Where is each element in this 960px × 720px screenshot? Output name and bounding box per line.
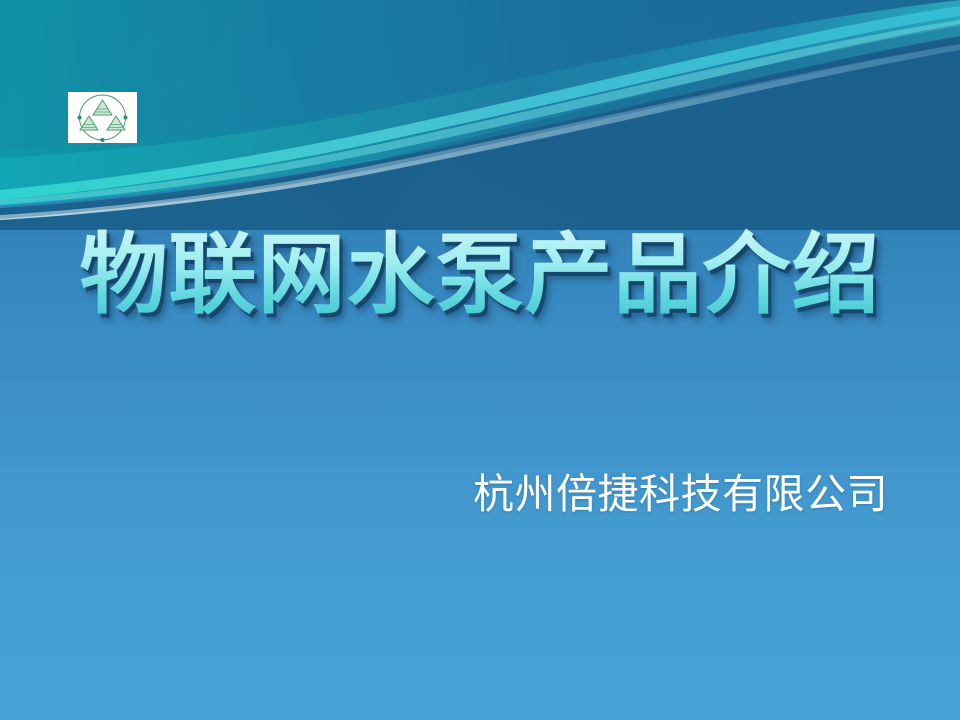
decorative-wave-graphic [0,0,960,230]
presentation-title-slide: 物联网水泵产品介绍 杭州倍捷科技有限公司 [0,0,960,720]
pyramid-left [80,116,98,130]
pyramid-right [107,116,125,130]
pyramid-top [93,100,112,115]
three-pyramids-icon [68,92,137,143]
slide-subtitle-company-name: 杭州倍捷科技有限公司 [0,460,960,520]
slide-title: 物联网水泵产品介绍 [0,228,960,321]
company-logo [68,92,137,143]
